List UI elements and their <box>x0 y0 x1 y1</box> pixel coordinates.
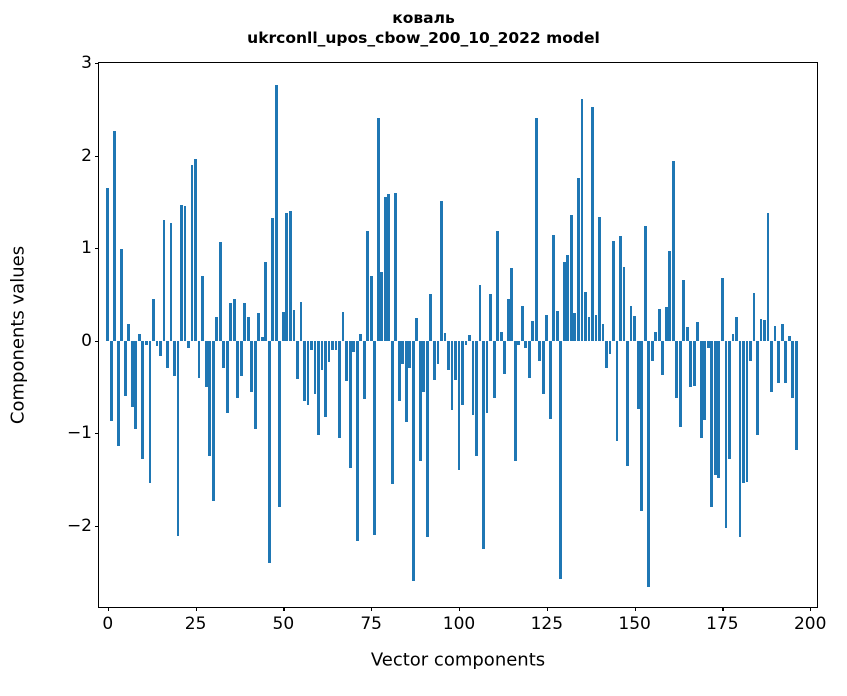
bar <box>152 299 155 341</box>
bar <box>264 262 267 341</box>
bar <box>710 341 713 508</box>
bar <box>366 231 369 341</box>
bar <box>219 242 222 341</box>
bar <box>570 215 573 341</box>
bar <box>700 341 703 438</box>
bar <box>517 341 520 346</box>
bar <box>208 341 211 457</box>
bar <box>408 341 411 369</box>
bar <box>198 341 201 378</box>
bar <box>626 341 629 466</box>
bar <box>215 317 218 340</box>
bar <box>510 268 513 340</box>
bar <box>693 341 696 386</box>
bar <box>465 341 468 346</box>
bar <box>640 341 643 511</box>
x-tick-label: 200 <box>794 614 826 634</box>
bar <box>454 341 457 381</box>
bar <box>696 322 699 341</box>
bar <box>373 341 376 535</box>
bar <box>120 249 123 341</box>
bar <box>324 341 327 417</box>
bar <box>293 310 296 341</box>
chart-title-line-2: ukrconll_upos_cbow_200_10_2022 model <box>0 28 847 48</box>
bar <box>458 341 461 471</box>
bar <box>475 341 478 457</box>
bar <box>307 341 310 406</box>
x-tick-label: 175 <box>706 614 738 634</box>
chart-title: коваль ukrconll_upos_cbow_200_10_2022 mo… <box>0 8 847 48</box>
bar <box>405 341 408 422</box>
bar <box>577 178 580 341</box>
bar <box>205 341 208 387</box>
matplotlib-figure: коваль ukrconll_upos_cbow_200_10_2022 mo… <box>0 0 847 696</box>
bar <box>243 303 246 341</box>
bar <box>602 324 605 341</box>
bar <box>535 118 538 341</box>
bar <box>194 159 197 340</box>
bar <box>542 341 545 395</box>
bar <box>300 302 303 341</box>
bar <box>138 334 141 340</box>
y-tick-mark <box>95 156 99 157</box>
bar <box>156 341 159 347</box>
bar <box>581 99 584 341</box>
bar <box>672 161 675 341</box>
bar <box>275 85 278 340</box>
bar <box>437 341 440 364</box>
bar <box>661 341 664 375</box>
y-tick-mark <box>95 526 99 527</box>
bar <box>795 341 798 450</box>
bar <box>314 341 317 395</box>
bar <box>331 341 334 350</box>
y-tick-label: −1 <box>67 423 92 443</box>
y-tick-mark <box>95 341 99 342</box>
bar <box>363 341 366 399</box>
bar <box>278 341 281 508</box>
bar <box>686 327 689 341</box>
bar <box>201 276 204 341</box>
bar <box>756 341 759 435</box>
bar <box>524 341 527 348</box>
bar <box>760 319 763 340</box>
bar <box>732 334 735 340</box>
bar <box>359 334 362 340</box>
bar <box>110 341 113 422</box>
bar <box>419 341 422 461</box>
bar <box>482 341 485 549</box>
bar <box>616 341 619 442</box>
bar <box>500 332 503 340</box>
bar <box>261 337 264 341</box>
bar <box>682 280 685 341</box>
bar <box>675 341 678 398</box>
bar <box>412 341 415 582</box>
x-tick-mark <box>547 607 548 611</box>
bar <box>763 320 766 340</box>
bar <box>665 307 668 340</box>
x-tick-label: 150 <box>618 614 650 634</box>
bar <box>257 313 260 341</box>
bar <box>461 341 464 406</box>
bar <box>556 311 559 341</box>
bar <box>124 341 127 397</box>
bar <box>591 107 594 340</box>
bar <box>563 262 566 341</box>
bar <box>630 306 633 340</box>
bar <box>781 324 784 341</box>
bar <box>496 231 499 341</box>
bar <box>503 341 506 374</box>
x-tick-label: 50 <box>273 614 295 634</box>
bar <box>282 312 285 341</box>
y-tick-mark <box>95 433 99 434</box>
bar <box>767 213 770 341</box>
x-tick-mark <box>108 607 109 611</box>
bar <box>489 294 492 340</box>
bar <box>342 312 345 341</box>
bar <box>468 335 471 341</box>
x-tick-mark <box>459 607 460 611</box>
bar <box>289 211 292 341</box>
bar <box>398 341 401 401</box>
bar <box>429 294 432 340</box>
x-axis-label: Vector components <box>371 650 545 671</box>
y-tick-label: 3 <box>81 53 92 73</box>
bar <box>728 341 731 459</box>
bar <box>391 341 394 484</box>
bar <box>679 341 682 427</box>
bar <box>746 341 749 483</box>
bar <box>707 341 710 348</box>
bar <box>514 341 517 461</box>
bar <box>749 341 752 361</box>
bar <box>528 341 531 378</box>
bar <box>422 341 425 392</box>
x-tick-mark <box>371 607 372 611</box>
bar <box>117 341 120 446</box>
bar <box>113 131 116 341</box>
bar <box>714 341 717 475</box>
bar <box>654 332 657 340</box>
y-tick-label: −2 <box>67 516 92 536</box>
bar <box>584 292 587 341</box>
bar <box>173 341 176 376</box>
bar <box>637 341 640 409</box>
bar <box>479 285 482 341</box>
y-tick-label: 2 <box>81 146 92 166</box>
bar <box>303 341 306 401</box>
x-tick-label: 0 <box>102 614 113 634</box>
bar <box>531 321 534 340</box>
bar <box>380 272 383 340</box>
bar <box>180 205 183 341</box>
bar <box>472 341 475 415</box>
bar <box>229 303 232 341</box>
bar <box>791 341 794 398</box>
bar <box>240 341 243 376</box>
y-tick-mark <box>95 248 99 249</box>
bar <box>725 341 728 528</box>
bar <box>170 223 173 341</box>
bar <box>134 341 137 429</box>
bar <box>345 341 348 382</box>
bar <box>521 306 524 340</box>
y-tick-label: 0 <box>81 331 92 351</box>
bar <box>184 206 187 340</box>
bar <box>753 293 756 340</box>
bar <box>370 276 373 341</box>
bar <box>598 217 601 341</box>
bar <box>623 267 626 341</box>
bar <box>250 341 253 392</box>
bar <box>703 341 706 421</box>
bar <box>233 299 236 341</box>
bar <box>384 197 387 340</box>
bar <box>658 309 661 340</box>
bar <box>559 341 562 580</box>
bar <box>285 213 288 341</box>
bar <box>163 220 166 340</box>
bar <box>191 165 194 341</box>
bar <box>609 341 612 354</box>
bar <box>566 255 569 340</box>
bar <box>668 251 671 341</box>
x-tick-mark <box>283 607 284 611</box>
bar <box>633 316 636 341</box>
bar <box>742 341 745 484</box>
x-tick-label: 25 <box>185 614 207 634</box>
bar <box>549 341 552 420</box>
x-tick-mark <box>635 607 636 611</box>
bar <box>545 315 548 341</box>
bar <box>335 341 338 350</box>
bar <box>145 341 148 346</box>
bar <box>212 341 215 501</box>
bar <box>444 333 447 340</box>
bar <box>777 341 780 384</box>
x-tick-label: 75 <box>360 614 382 634</box>
bar <box>451 341 454 410</box>
bar <box>141 341 144 459</box>
bar <box>310 341 313 350</box>
bar <box>338 341 341 438</box>
bar <box>486 341 489 413</box>
chart-title-line-1: коваль <box>0 8 847 28</box>
x-tick-mark <box>722 607 723 611</box>
bar-series <box>99 63 817 607</box>
bar <box>721 278 724 341</box>
bar <box>254 341 257 429</box>
bar <box>552 235 555 340</box>
bar <box>770 341 773 392</box>
bar <box>788 336 791 341</box>
bar <box>619 236 622 341</box>
bar <box>612 241 615 341</box>
bar <box>296 341 299 379</box>
bar <box>236 341 239 398</box>
bar <box>131 341 134 408</box>
bar <box>377 118 380 341</box>
bar <box>356 341 359 542</box>
bar <box>433 341 436 381</box>
bar <box>774 326 777 341</box>
x-tick-mark <box>196 607 197 611</box>
bar <box>321 341 324 371</box>
bar <box>387 194 390 340</box>
bar <box>493 341 496 398</box>
bar <box>651 341 654 361</box>
bar <box>573 313 576 341</box>
y-tick-mark <box>95 63 99 64</box>
bar <box>739 341 742 537</box>
bar <box>717 341 720 478</box>
bar <box>247 317 250 340</box>
bar <box>595 315 598 341</box>
x-tick-label: 100 <box>443 614 475 634</box>
bar <box>222 341 225 369</box>
bar <box>605 341 608 369</box>
bar <box>328 341 331 362</box>
bar <box>588 317 591 341</box>
bar <box>447 341 450 371</box>
bar <box>352 341 355 352</box>
x-tick-label: 125 <box>531 614 563 634</box>
bar <box>177 341 180 536</box>
plot-axes: −2−10123 0255075100125150175200 <box>98 62 818 608</box>
bar <box>784 341 787 384</box>
bar <box>415 318 418 340</box>
y-axis-label: Components values <box>8 246 29 424</box>
bar <box>538 341 541 361</box>
bar <box>735 317 738 340</box>
bar <box>689 341 692 387</box>
bar <box>507 299 510 341</box>
bar <box>187 341 190 348</box>
bar <box>394 193 397 341</box>
bar <box>271 218 274 340</box>
bar <box>268 341 271 563</box>
bar <box>226 341 229 413</box>
bar <box>106 188 109 341</box>
x-tick-mark <box>810 607 811 611</box>
bar <box>127 324 130 341</box>
bar <box>644 226 647 341</box>
bar <box>349 341 352 469</box>
bar <box>440 201 443 341</box>
bar <box>166 341 169 369</box>
bar <box>317 341 320 435</box>
bar <box>647 341 650 587</box>
bar <box>159 341 162 357</box>
bar <box>426 341 429 537</box>
bar <box>401 341 404 364</box>
bar <box>149 341 152 484</box>
y-tick-label: 1 <box>81 238 92 258</box>
